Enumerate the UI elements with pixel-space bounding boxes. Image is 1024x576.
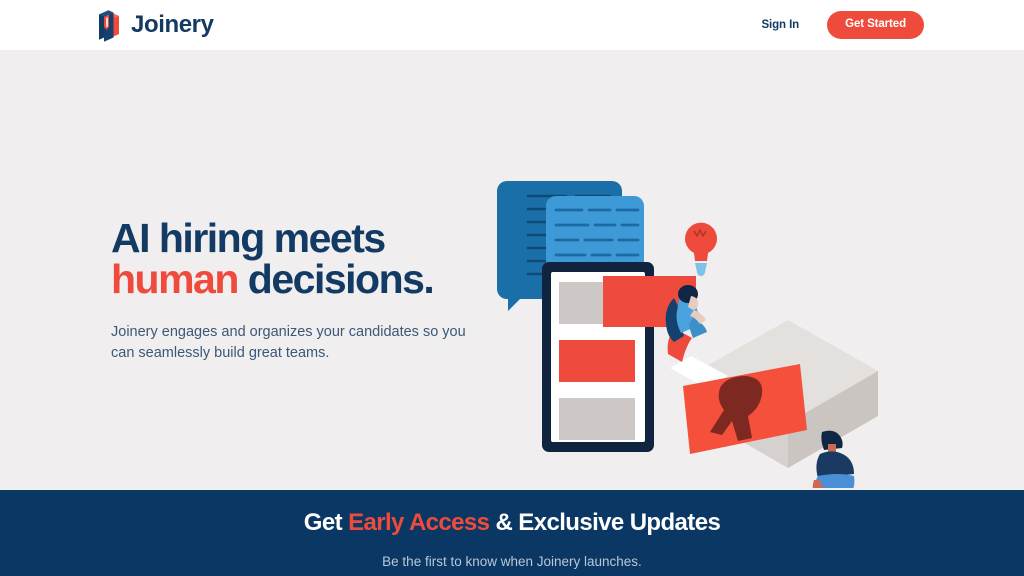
site-header: Joinery Sign In Get Started xyxy=(0,0,1024,50)
header-nav: Sign In Get Started xyxy=(761,11,924,40)
banner-title: Get Early Access & Exclusive Updates xyxy=(0,509,1024,538)
joinery-cube-logo-icon xyxy=(96,8,122,42)
person-with-laptop-icon xyxy=(813,431,884,488)
sign-in-link[interactable]: Sign In xyxy=(761,19,799,31)
banner-subtitle: Be the first to know when Joinery launch… xyxy=(0,552,1024,572)
device-block-gray-2 xyxy=(559,398,635,440)
brand-logo[interactable]: Joinery xyxy=(96,8,214,42)
banner-title-part1: Get xyxy=(304,509,348,536)
hero-copy: AI hiring meets human decisions. Joinery… xyxy=(111,218,511,363)
lightbulb-idea-icon xyxy=(685,223,717,276)
hero-section: AI hiring meets human decisions. Joinery… xyxy=(0,50,1024,490)
hero-headline-accent: human xyxy=(111,256,238,302)
brand-name: Joinery xyxy=(131,13,214,37)
get-started-button[interactable]: Get Started xyxy=(827,11,924,40)
hero-subhead: Joinery engages and organizes your candi… xyxy=(111,322,473,363)
landing-page: Joinery Sign In Get Started AI hiring me… xyxy=(0,0,1024,576)
banner-title-accent: Early Access xyxy=(348,509,489,536)
hero-headline-part1: AI hiring meets xyxy=(111,215,385,261)
device-block-red-1 xyxy=(559,340,635,382)
hero-headline-part2: decisions. xyxy=(238,256,433,302)
hero-headline: AI hiring meets human decisions. xyxy=(111,218,511,300)
person-reviewing-resume-icon xyxy=(666,285,728,388)
banner-title-part2: & Exclusive Updates xyxy=(489,509,720,536)
hiring-team-illustration xyxy=(488,168,888,488)
early-access-banner: Get Early Access & Exclusive Updates Be … xyxy=(0,490,1024,576)
